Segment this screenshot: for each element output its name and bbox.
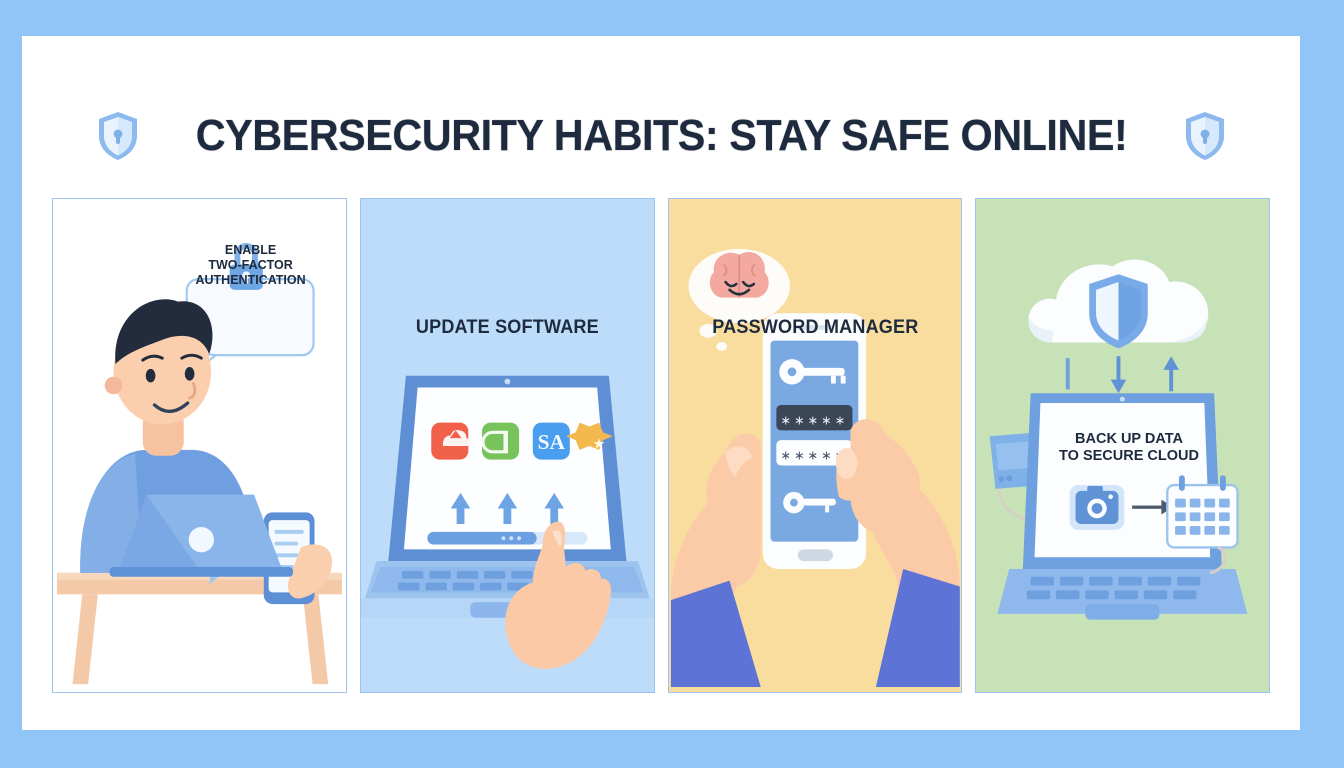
bubble-line-1: ENABLE (191, 243, 311, 258)
panel-label-password-manager: PASSWORD MANAGER (676, 317, 954, 339)
bubble-line-3: AUTHENTICATION (191, 273, 311, 288)
title-row: CYBERSECURITY HABITS: STAY SAFE ONLINE! (22, 98, 1300, 174)
shield-lock-icon (96, 110, 140, 162)
arrow-down-icon (1111, 356, 1127, 393)
panel-backup-cloud[interactable]: BACK UP DATA TO SECURE CLOUD (975, 198, 1270, 693)
svg-text:SA: SA (537, 430, 565, 454)
panel-label-update-software: UPDATE SOFTWARE (368, 317, 646, 339)
page-title: CYBERSECURITY HABITS: STAY SAFE ONLINE! (195, 111, 1127, 161)
panel-password-manager[interactable]: PASSWORD MANAGER (668, 198, 963, 693)
app-icon-red (431, 423, 470, 460)
speech-bubble-text: ENABLE TWO-FACTOR AUTHENTICATION (191, 243, 311, 287)
svg-text:★: ★ (593, 437, 605, 451)
app-icon-blue: SA (532, 423, 569, 460)
panel-update-software[interactable]: UPDATE SOFTWARE (360, 198, 655, 693)
panel-two-factor-authentication[interactable]: ENABLE TWO-FACTOR AUTHENTICATION (52, 198, 347, 693)
arrow-up-icon (1164, 356, 1180, 391)
password-field-masked: ∗∗∗∗∗ (776, 405, 852, 430)
poster-canvas: CYBERSECURITY HABITS: STAY SAFE ONLINE! (22, 36, 1300, 730)
shield-lock-icon (1183, 110, 1227, 162)
arrow-up-icon (1066, 358, 1070, 389)
calendar-icon (1168, 475, 1238, 547)
svg-text:∗∗∗∗∗: ∗∗∗∗∗ (780, 414, 848, 428)
bubble-line-2: TWO-FACTOR (191, 258, 311, 273)
screen-line-2: TO SECURE CLOUD (1049, 448, 1209, 465)
app-icon-green (482, 423, 519, 460)
camera-icon (1070, 485, 1125, 530)
illustration-laptop-updates: SA ★ (361, 199, 654, 692)
screen-line-1: BACK UP DATA (1049, 431, 1209, 448)
panel-grid: ENABLE TWO-FACTOR AUTHENTICATION UPDATE … (52, 198, 1270, 693)
illustration-hands-phone-passwords: ∗∗∗∗∗ ∗∗∗∗∗ (669, 199, 962, 692)
laptop-screen-text: BACK UP DATA TO SECURE CLOUD (1049, 431, 1209, 466)
